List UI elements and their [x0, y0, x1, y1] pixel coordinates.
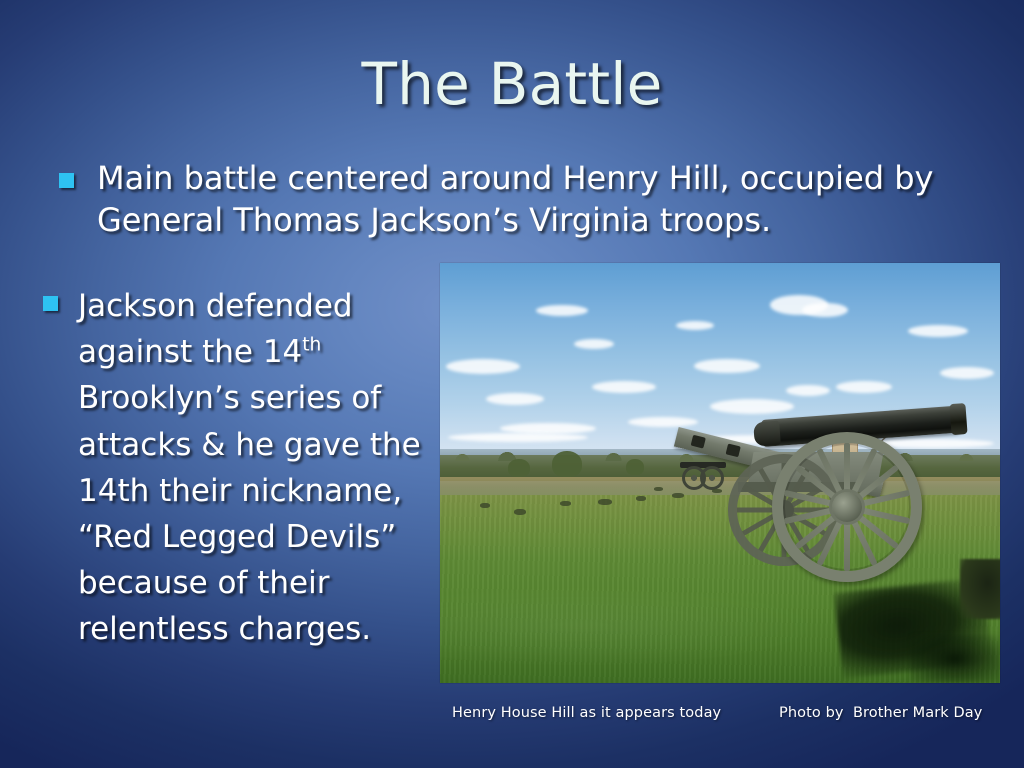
- cloud-icon: [574, 339, 614, 349]
- cloud-icon: [448, 433, 588, 442]
- field-speck: [560, 501, 571, 506]
- trail-bolt: [726, 443, 741, 457]
- bullet-1-line-1: Main battle centered around Henry Hill, …: [97, 159, 884, 197]
- field-speck: [636, 496, 646, 501]
- bullet-2-text-after-superscript: Brooklyn’s series of attacks & he gave t…: [78, 380, 421, 647]
- cloud-icon: [694, 359, 760, 373]
- bullet-item-1-label: Main battle centered around Henry Hill, …: [97, 158, 977, 242]
- slide-canvas: The Battle Main battle centered around H…: [0, 0, 1024, 768]
- trail-bolt: [691, 435, 706, 449]
- field-speck: [654, 487, 663, 491]
- cloud-icon: [802, 303, 848, 317]
- bush-icon: [508, 459, 530, 477]
- square-bullet-icon: [59, 173, 74, 188]
- civil-war-cannon: [698, 406, 1000, 596]
- photo-caption-left: Henry House Hill as it appears today: [452, 705, 721, 721]
- cloud-icon: [446, 359, 520, 374]
- bush-icon: [626, 459, 644, 475]
- cloud-icon: [536, 305, 588, 316]
- cannon-wheel-front-hub: [832, 492, 862, 522]
- field-speck: [480, 503, 490, 508]
- cloud-icon: [592, 381, 656, 393]
- field-speck: [598, 499, 612, 505]
- cloud-icon: [836, 381, 892, 393]
- field-speck: [514, 509, 526, 515]
- cloud-icon: [628, 417, 698, 427]
- cloud-icon: [786, 385, 830, 396]
- photo-caption-right: Photo by Brother Mark Day: [779, 705, 982, 721]
- bullet-2-ordinal-superscript: th: [302, 335, 321, 356]
- bullet-item-1: Main battle centered around Henry Hill, …: [59, 158, 989, 242]
- page-title: The Battle: [0, 54, 1024, 115]
- cloud-icon: [908, 325, 968, 337]
- cloud-icon: [486, 393, 544, 405]
- battlefield-photo: [440, 263, 1000, 683]
- bullet-2-text-before-superscript: Jackson defended against the 14: [78, 288, 353, 370]
- cannon-muzzle: [949, 403, 967, 435]
- cannon-shadow-secondary: [910, 635, 1000, 683]
- cloud-icon: [940, 367, 994, 379]
- square-bullet-icon: [43, 296, 58, 311]
- cloud-icon: [676, 321, 714, 330]
- bush-icon: [552, 451, 582, 477]
- bullet-item-2-label: Jackson defended against the 14th Brookl…: [78, 283, 428, 653]
- field-speck: [672, 493, 684, 498]
- cannon-breech: [753, 421, 781, 447]
- bullet-item-2: Jackson defended against the 14th Brookl…: [43, 283, 443, 653]
